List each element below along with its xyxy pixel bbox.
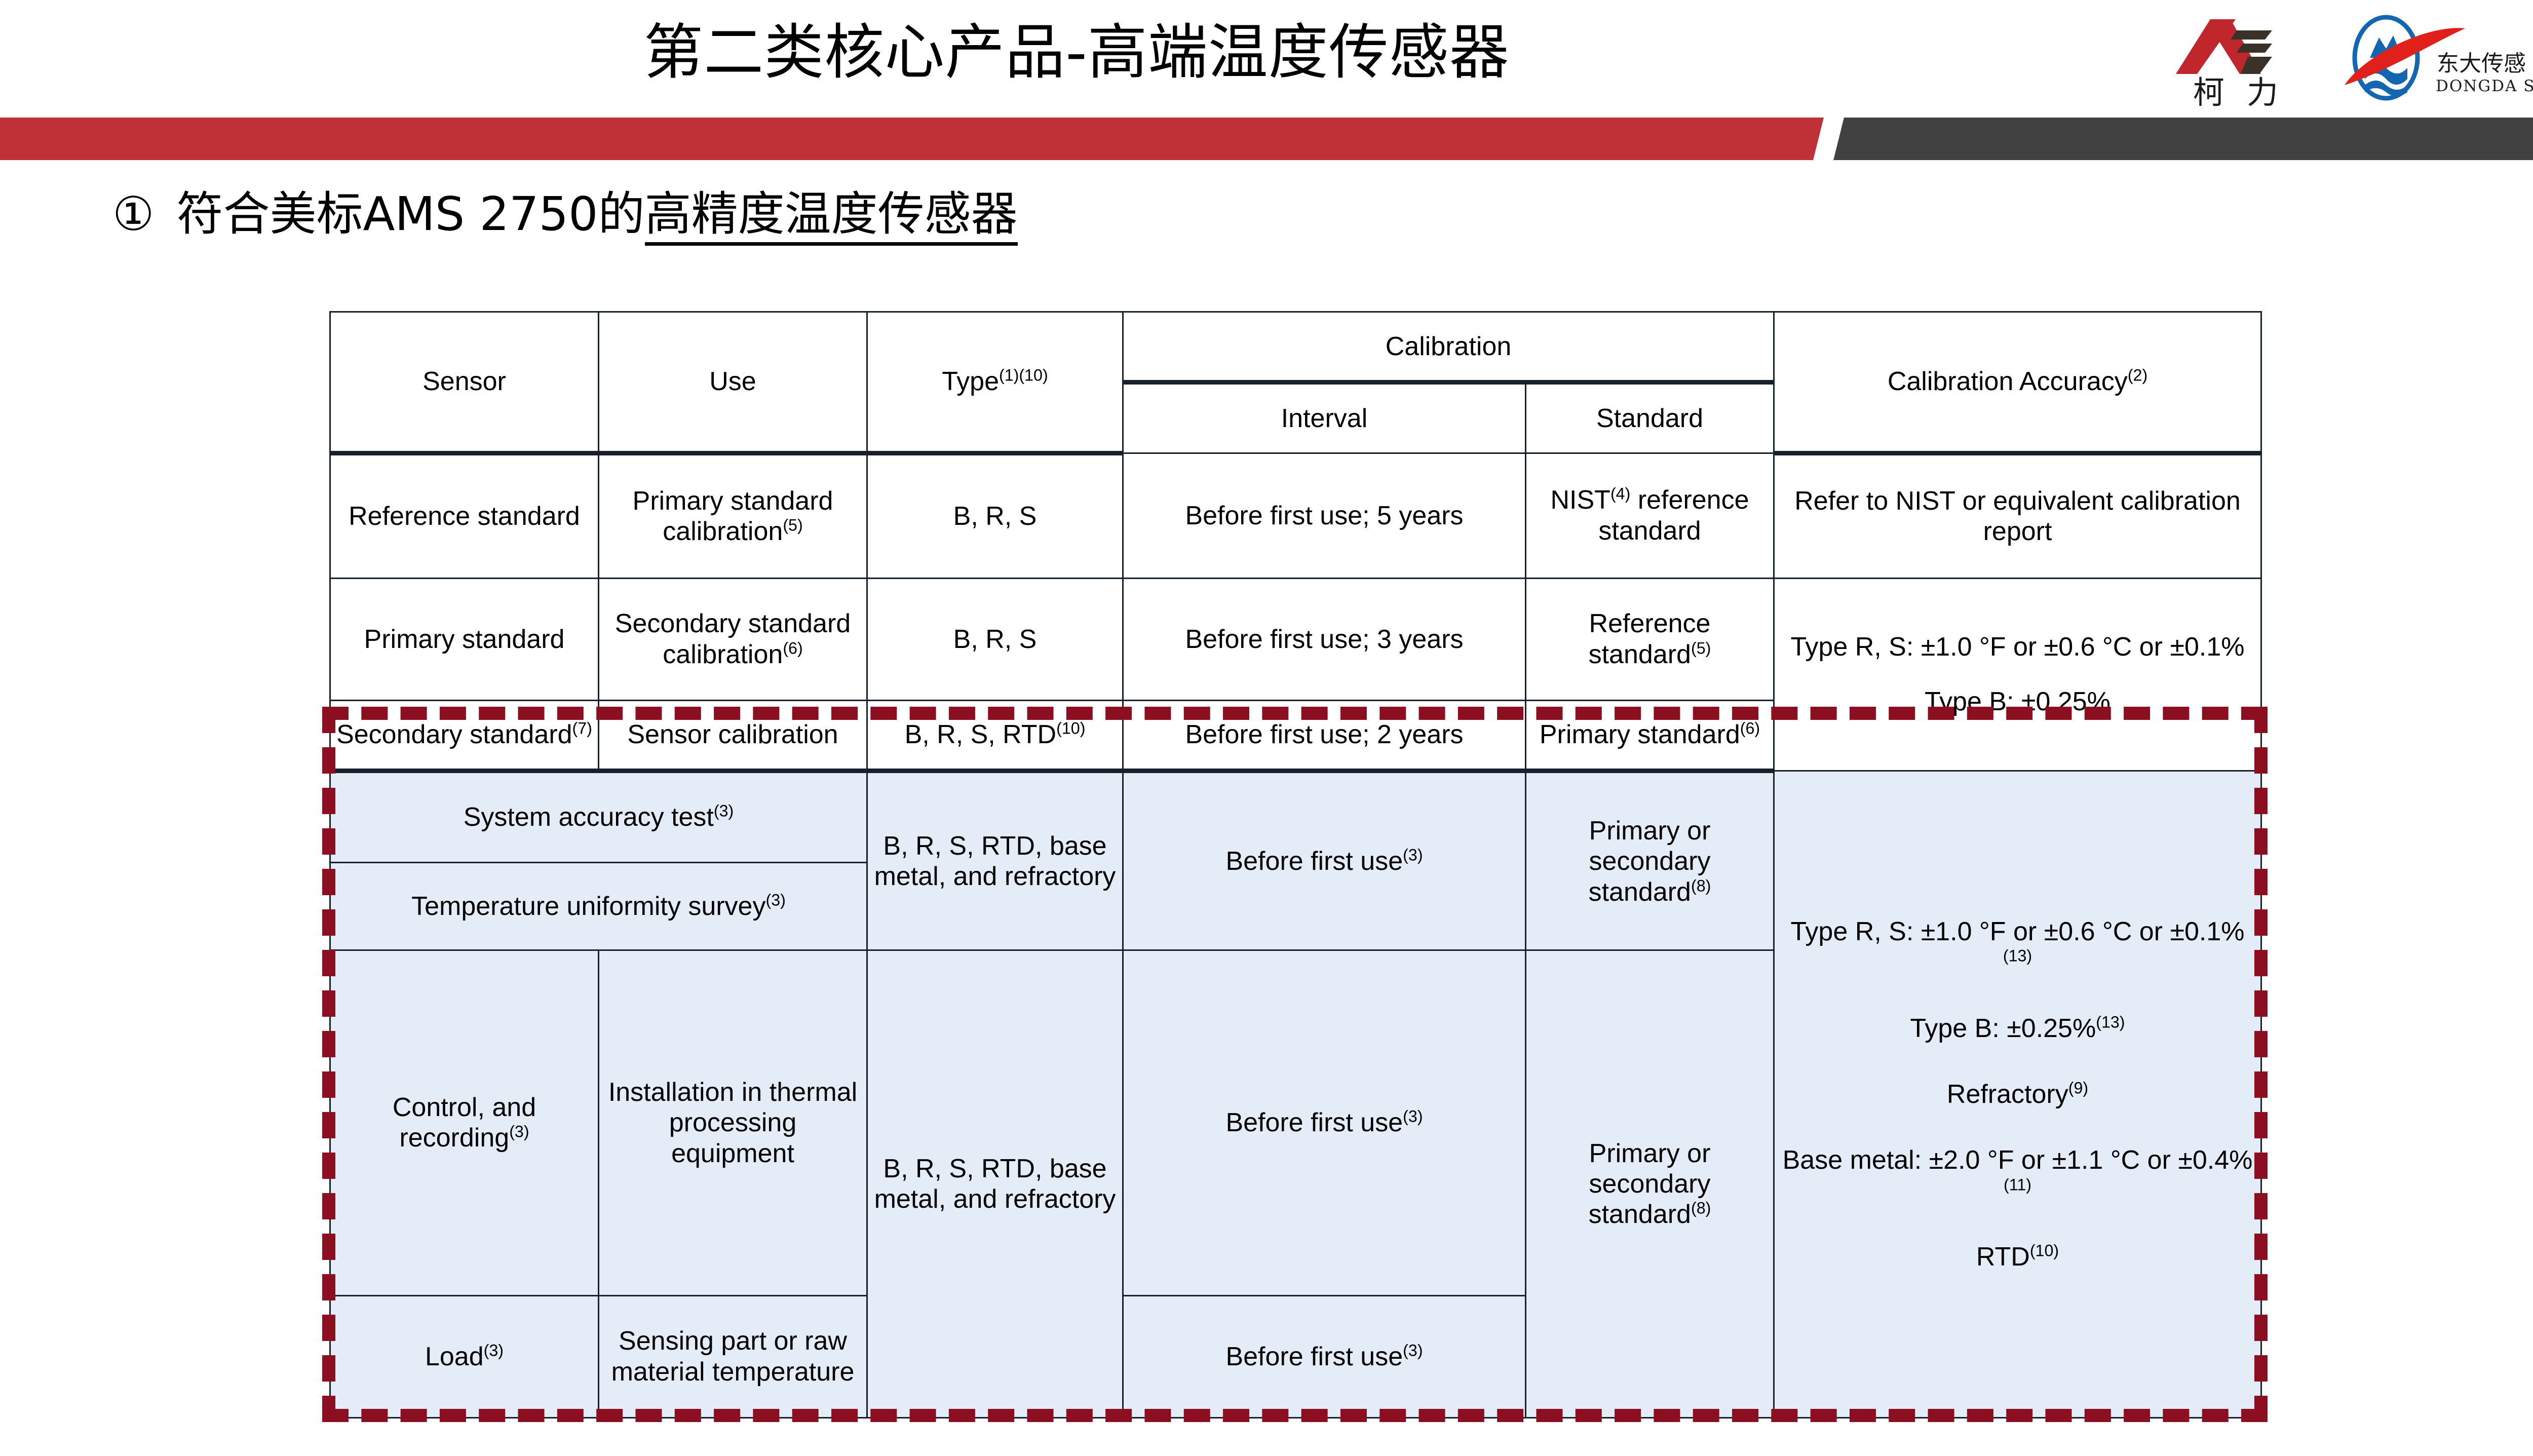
cell-type-label: B, R, S, RTD: [905, 720, 1057, 749]
cell-span-sup: (3): [714, 802, 734, 820]
table-row-highlighted: System accuracy test(3) B, R, S, RTD, ba…: [330, 771, 2261, 863]
header-accent-bar-gray: [1833, 118, 2533, 160]
header-calibration: Calibration: [1123, 312, 1774, 382]
section-subtitle: ①符合美标AMS 2750的高精度温度传感器: [112, 181, 1018, 247]
subtitle-text-underlined: 高精度温度传感器: [645, 187, 1018, 246]
cell-span-text: System accuracy test: [464, 802, 714, 832]
cell-standard-label: NIST: [1551, 485, 1610, 515]
header-interval: Interval: [1123, 382, 1526, 453]
cell-interval-sup: (3): [1403, 1341, 1423, 1359]
cell-sensor-sup: (3): [484, 1341, 504, 1359]
table-row: Primary standard Secondary standard cali…: [330, 578, 2261, 700]
cell-interval-sup: (3): [1403, 846, 1423, 864]
cell-use: Sensing part or raw material temperature: [599, 1295, 867, 1417]
accuracy-hl-line-5: RTD(10): [1780, 1242, 2255, 1272]
cell-use: Installation in thermal processing equip…: [599, 950, 867, 1295]
header-accuracy-label: Calibration Accuracy: [1888, 367, 2128, 396]
cell-standard: Primary or secondary standard(8): [1526, 950, 1774, 1418]
cell-sensor-label: Load: [425, 1342, 484, 1371]
cell-interval-label: Before first use: [1225, 847, 1403, 876]
cell-type: B, R, S: [867, 578, 1123, 700]
cell-sensor: Reference standard: [330, 453, 599, 578]
cell-use-sup: (5): [783, 516, 802, 534]
cell-standard-sup: (6): [1740, 719, 1760, 738]
cell-span-text: Temperature uniformity survey: [411, 892, 765, 921]
cell-sensor-sup: (3): [509, 1123, 529, 1141]
accuracy-hl-line-4: Base metal: ±2.0 °F or ±1.1 °C or ±0.4%(…: [1780, 1145, 2255, 1206]
cell-accuracy: Type R, S: ±1.0 °F or ±0.6 °C or ±0.1% T…: [1774, 578, 2261, 771]
header-accuracy-sup: (2): [2128, 366, 2147, 385]
cell-interval-sup: (3): [1403, 1107, 1423, 1126]
table-row: Reference standard Primary standard cali…: [330, 453, 2261, 578]
header-type-label: Type: [942, 367, 999, 396]
cell-sensor: Control, and recording(3): [330, 950, 599, 1295]
cell-standard: NIST(4) reference standard: [1526, 453, 1774, 578]
cell-use: Sensor calibration: [599, 700, 867, 771]
cell-sensor-sup: (7): [572, 719, 592, 738]
accuracy-hl-line-3: Refractory(9): [1780, 1079, 2255, 1109]
accuracy-hl-line-1: Type R, S: ±1.0 °F or ±0.6 °C or ±0.1%(1…: [1780, 916, 2255, 978]
cell-standard: Primary standard(6): [1526, 700, 1774, 771]
cell-sensor-label: Secondary standard: [336, 720, 572, 749]
header-accent-bar-red: [0, 118, 1824, 160]
cell-accuracy-highlighted: Type R, S: ±1.0 °F or ±0.6 °C or ±0.1%(1…: [1774, 771, 2261, 1418]
cell-use: Primary standard calibration(5): [599, 453, 867, 578]
cell-type: B, R, S: [867, 453, 1123, 578]
slide-root: 第二类核心产品-高端温度传感器 柯 力 东大传感 DONGDA SENSOR ®…: [0, 0, 2533, 1456]
dongda-logo: 东大传感 DONGDA SENSOR: [2335, 11, 2533, 107]
accuracy-line-1: Type R, S: ±1.0 °F or ±0.6 °C or ±0.1%: [1780, 632, 2255, 662]
header-standard: Standard: [1526, 382, 1774, 453]
svg-text:力: 力: [2247, 74, 2278, 110]
svg-text:柯: 柯: [2193, 74, 2224, 110]
cell-sensor: Primary standard: [330, 578, 599, 700]
header-type: Type(1)(10): [867, 312, 1123, 453]
cell-interval: Before first use(3): [1123, 771, 1526, 950]
cell-standard: Reference standard(5): [1526, 578, 1774, 700]
cell-interval: Before first use(3): [1123, 1295, 1526, 1417]
subtitle-marker: ①: [112, 187, 154, 241]
cell-standard-label: Primary standard: [1540, 720, 1740, 749]
cell-interval: Before first use(3): [1123, 950, 1526, 1295]
cell-interval-label: Before first use: [1225, 1342, 1403, 1371]
cell-sensor: Load(3): [330, 1295, 599, 1417]
header-accuracy: Calibration Accuracy(2): [1774, 312, 2261, 453]
accuracy-hl-line-2: Type B: ±0.25%(13): [1780, 1013, 2255, 1044]
cell-type-sup: (10): [1056, 719, 1085, 738]
table-header-row-1: Sensor Use Type(1)(10) Calibration Calib…: [330, 312, 2261, 382]
cell-standard-sup: (4): [1610, 485, 1630, 503]
accuracy-line-2: Type B: ±0.25%: [1780, 686, 2255, 717]
cell-type: B, R, S, RTD(10): [867, 700, 1123, 771]
cell-span-sup: (3): [765, 891, 785, 909]
ams2750-table: Sensor Use Type(1)(10) Calibration Calib…: [329, 311, 2260, 1419]
cell-type: B, R, S, RTD, base metal, and refractory: [867, 771, 1123, 950]
cell-interval: Before first use; 5 years: [1123, 453, 1526, 578]
page-title: 第二类核心产品-高端温度传感器: [0, 9, 2153, 95]
cell-type: B, R, S, RTD, base metal, and refractory: [867, 950, 1123, 1418]
cell-standard-sup: (5): [1691, 639, 1711, 657]
cell-interval-label: Before first use: [1225, 1108, 1403, 1137]
cell-span-label: Temperature uniformity survey(3): [330, 862, 867, 950]
cell-standard-sup: (8): [1691, 876, 1711, 895]
cell-use-sup: (6): [783, 639, 802, 657]
cell-accuracy: Refer to NIST or equivalent calibration …: [1774, 453, 2261, 578]
cell-standard-sup: (8): [1691, 1199, 1711, 1217]
keli-logo: 柯 力: [2171, 9, 2302, 110]
cell-use-label: Primary standard calibration: [633, 486, 833, 546]
cell-sensor: Secondary standard(7): [330, 700, 599, 771]
cell-use: Secondary standard calibration(6): [599, 578, 867, 700]
cell-span-label: System accuracy test(3): [330, 771, 867, 863]
cell-use-label: Secondary standard calibration: [615, 609, 851, 669]
header-sensor: Sensor: [330, 312, 599, 453]
cell-standard: Primary or secondary standard(8): [1526, 771, 1774, 950]
subtitle-text-plain: 符合美标AMS 2750的: [176, 187, 644, 241]
cell-interval: Before first use; 3 years: [1123, 578, 1526, 700]
svg-text:DONGDA SENSOR: DONGDA SENSOR: [2436, 77, 2533, 95]
header-use: Use: [599, 312, 867, 453]
svg-text:东大传感: 东大传感: [2437, 51, 2526, 76]
cell-interval: Before first use; 2 years: [1123, 700, 1526, 771]
header-type-sup: (1)(10): [999, 366, 1048, 385]
